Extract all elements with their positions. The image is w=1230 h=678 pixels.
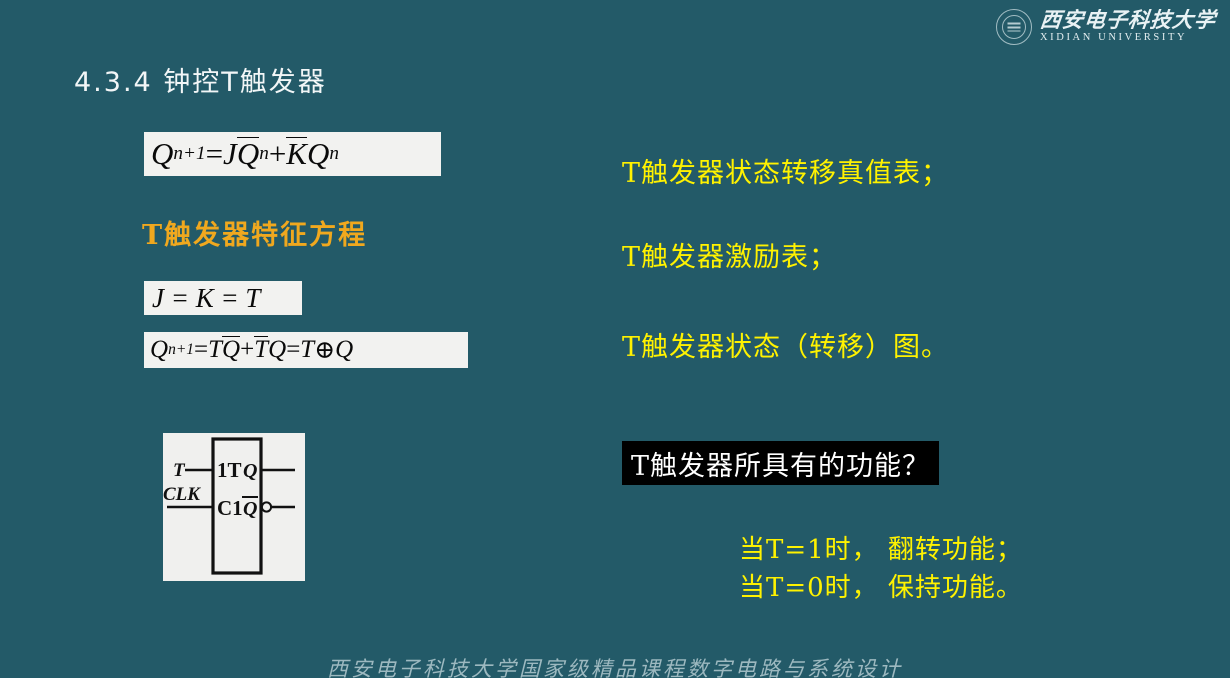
formula-superscript: n+1 bbox=[173, 143, 205, 165]
conclusion-toggle: 当T=1时， 翻转功能； bbox=[739, 529, 1023, 566]
question-highlight-box: T触发器所具有的功能？ bbox=[622, 441, 939, 485]
formula-term: Q bbox=[151, 136, 173, 172]
label-output-q: Q bbox=[243, 460, 257, 482]
slide-canvas: 西安电子科技大学 XIDIAN UNIVERSITY 4.3.4 钟控T触发器 … bbox=[0, 0, 1230, 678]
label-clk-input: CLK bbox=[163, 484, 201, 505]
university-name-cn: 西安电子科技大学 bbox=[1039, 10, 1217, 31]
label-pin-1t: 1T bbox=[217, 458, 242, 482]
formula-term-overbar: K bbox=[286, 137, 307, 171]
formula-term-overbar: T bbox=[254, 336, 268, 363]
caption-t-characteristic-equation: T触发器特征方程 bbox=[142, 213, 367, 252]
formula-t-characteristic: Qn+1 = TQ + TQ = T ⊕ Q bbox=[144, 332, 468, 368]
university-logo-text: 西安电子科技大学 XIDIAN UNIVERSITY bbox=[1040, 10, 1216, 44]
formula-operator: = bbox=[194, 336, 208, 364]
bullet-excitation-table: T触发器激励表； bbox=[622, 235, 837, 274]
formula-superscript: n bbox=[329, 143, 339, 165]
label-pin-c1: C1 bbox=[217, 496, 243, 520]
formula-term: T bbox=[300, 336, 314, 364]
university-logo: 西安电子科技大学 XIDIAN UNIVERSITY bbox=[996, 6, 1224, 48]
formula-j-equals-k-equals-t: J = K = T bbox=[144, 281, 302, 315]
bullet-truth-table: T触发器状态转移真值表； bbox=[622, 151, 949, 190]
formula-term: Q bbox=[150, 336, 168, 364]
formula-operator: = bbox=[286, 336, 300, 364]
formula-term: Q bbox=[335, 336, 353, 364]
formula-term: J bbox=[223, 136, 237, 172]
formula-term: T bbox=[208, 336, 222, 364]
formula-term-overbar: Q bbox=[237, 137, 259, 171]
flip-flop-svg: T CLK 1T C1 Q Q bbox=[163, 433, 305, 581]
formula-term-overbar: Q bbox=[222, 336, 240, 363]
inversion-bubble-icon bbox=[262, 502, 271, 511]
formula-jk-characteristic: Qn+1 = JQn + KQn bbox=[144, 132, 441, 176]
label-t-input: T bbox=[173, 460, 186, 481]
formula-operator: = bbox=[206, 136, 223, 172]
university-seal-icon bbox=[996, 9, 1032, 45]
university-name-en: XIDIAN UNIVERSITY bbox=[1040, 33, 1216, 44]
slide-footer: 西安电子科技大学国家级精品课程数字电路与系统设计 bbox=[0, 653, 1230, 678]
bullet-state-diagram: T触发器状态（转移）图。 bbox=[622, 325, 949, 364]
formula-operator: + bbox=[269, 136, 286, 172]
formula-operator: + bbox=[240, 336, 254, 364]
formula-operator-xor: ⊕ bbox=[314, 335, 335, 365]
formula-term: Q bbox=[268, 336, 286, 364]
formula-term: Q bbox=[307, 136, 329, 172]
formula-superscript: n bbox=[259, 143, 269, 165]
conclusion-hold: 当T=0时， 保持功能。 bbox=[739, 567, 1023, 604]
label-output-qbar: Q bbox=[243, 498, 257, 520]
formula-superscript: n+1 bbox=[168, 341, 194, 359]
t-flip-flop-symbol-diagram: T CLK 1T C1 Q Q bbox=[163, 433, 305, 581]
page-title: 4.3.4 钟控T触发器 bbox=[74, 60, 327, 99]
